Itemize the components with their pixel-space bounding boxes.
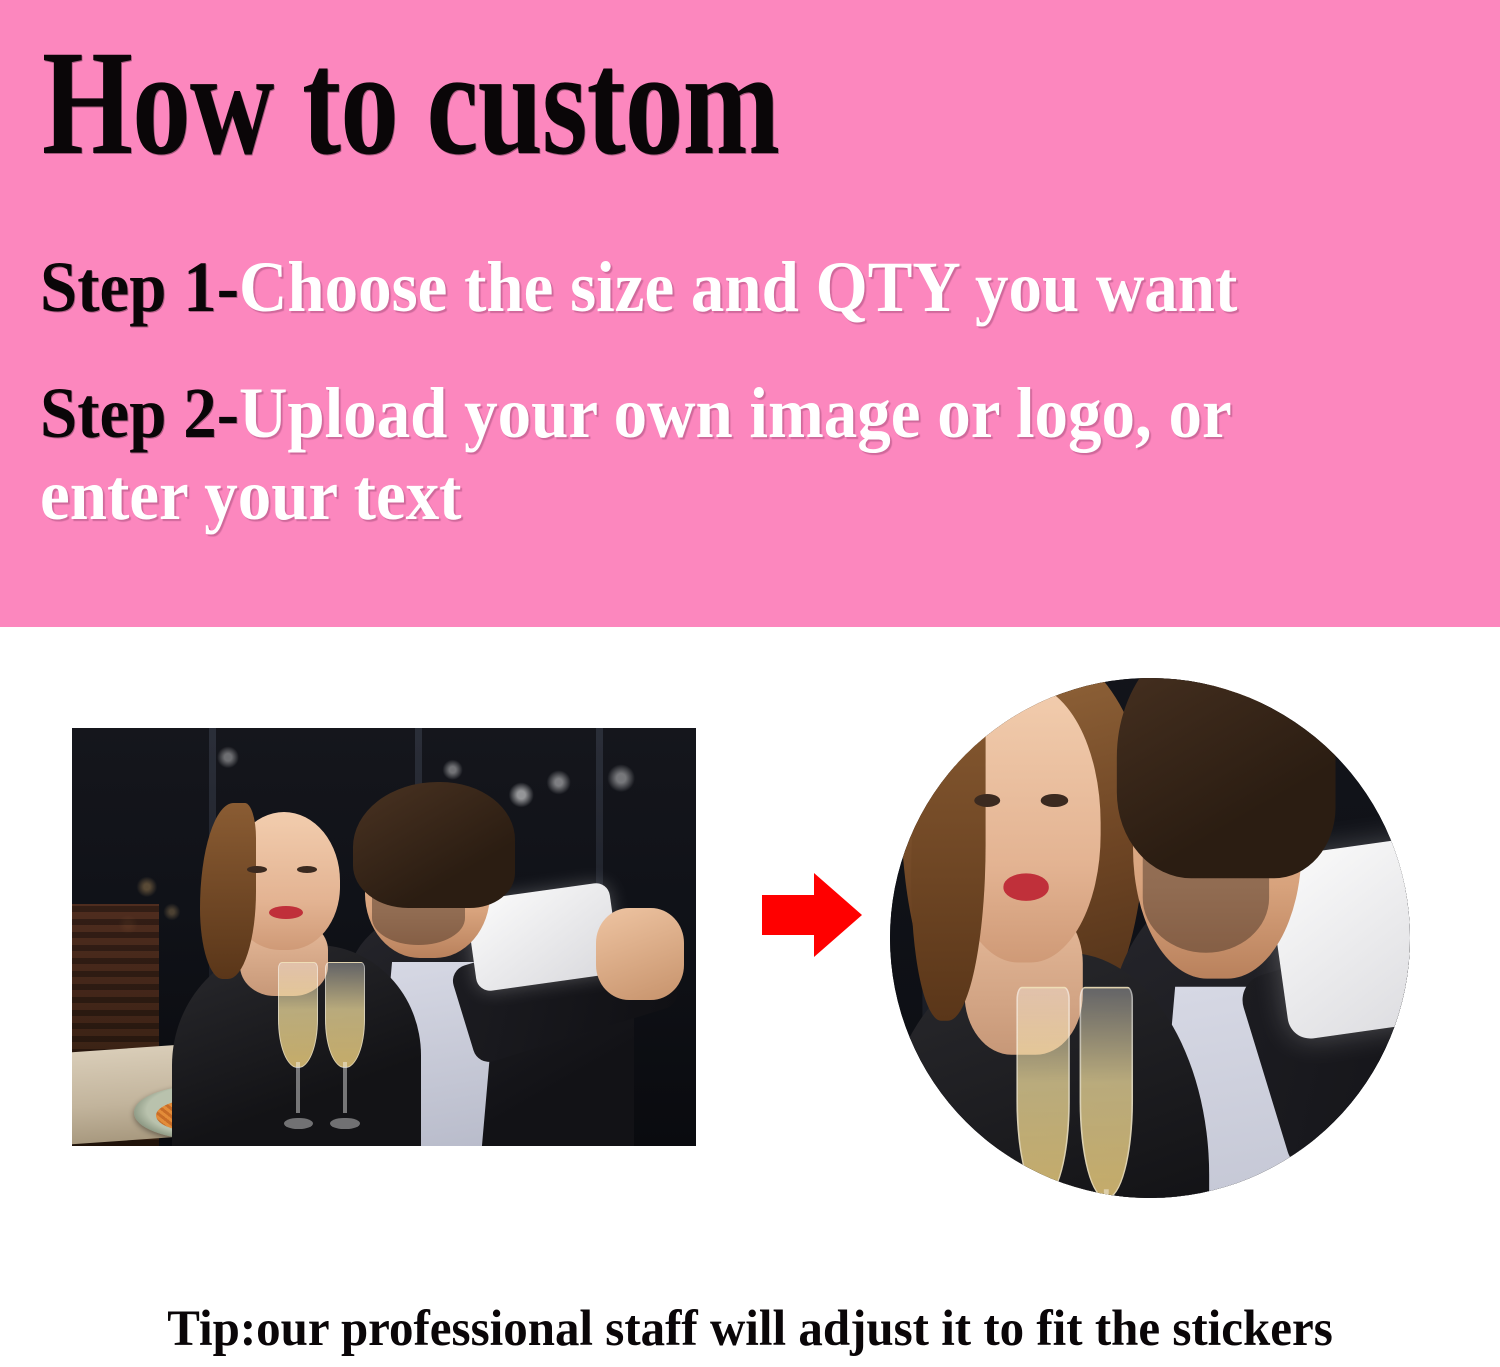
woman-lips [1003,873,1049,900]
champagne-flute [1079,987,1134,1198]
step-2-label: Step 2- [40,373,239,453]
step-1-label: Step 1- [40,247,239,327]
champagne-flute [1016,987,1071,1198]
couple-photo-scene-cropped [890,678,1410,1198]
step-1-line: Step 1-Choose the size and QTY you want [40,246,1370,328]
page-title: How to custom [42,28,1134,178]
tip-text: Tip:our professional staff will adjust i… [30,1304,1470,1355]
demo-section [0,627,1500,1367]
woman-eye-left [974,793,1001,806]
step-1-text: Choose the size and QTY you want [239,247,1237,327]
man-hair [1117,678,1336,878]
woman-eye-left [247,866,267,873]
woman-eye-right [297,866,317,873]
before-photo [72,728,696,1146]
after-photo [890,678,1410,1198]
champagne-flute [278,962,319,1129]
couple-photo-scene [72,728,696,1146]
header-banner: How to custom Step 1-Choose the size and… [0,0,1500,627]
step-2-line: Step 2-Upload your own image or logo, or… [40,372,1370,536]
woman-lips [269,906,303,919]
man-hair [353,782,515,907]
page-root: How to custom Step 1-Choose the size and… [0,0,1500,1367]
champagne-flute [325,962,366,1129]
woman-eye-right [1041,793,1068,806]
hand [596,908,683,1000]
right-arrow-icon [762,873,862,957]
